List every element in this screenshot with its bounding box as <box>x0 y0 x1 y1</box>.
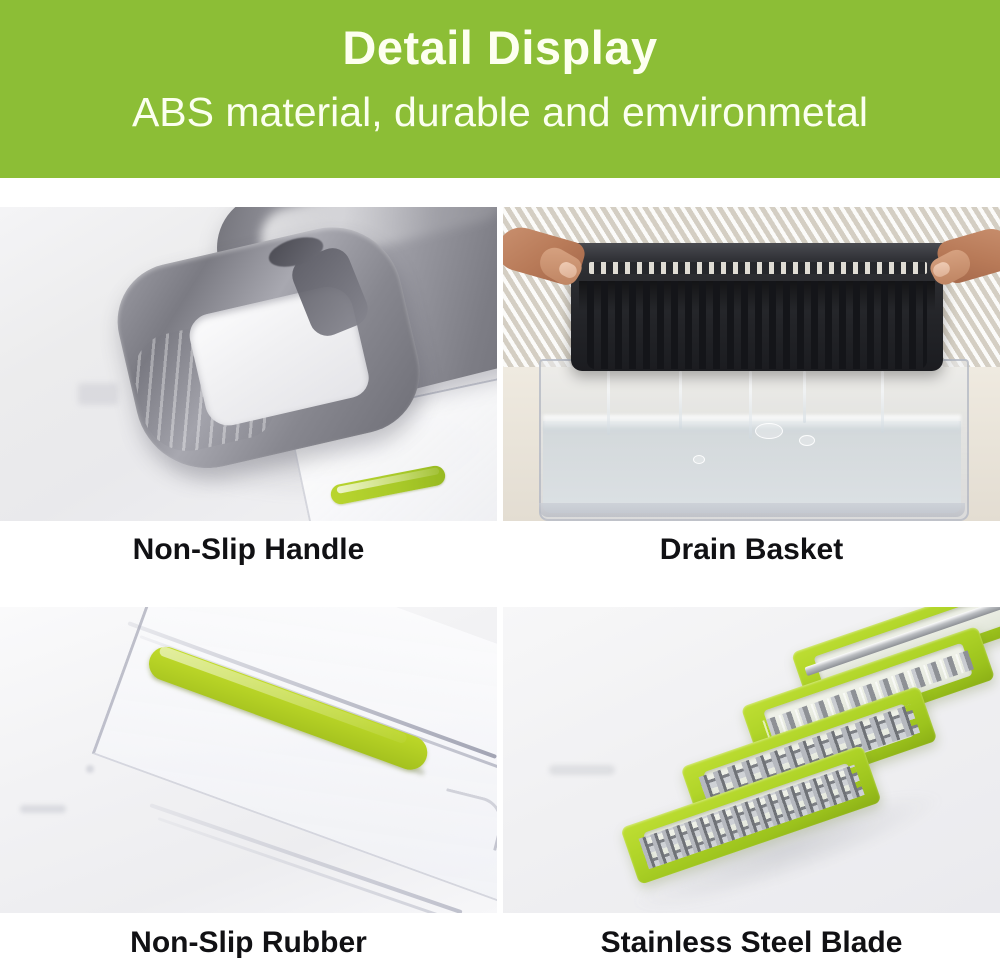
water-drip <box>749 371 752 439</box>
water-body <box>543 421 961 513</box>
water-bubble <box>755 423 783 439</box>
water-drip <box>607 371 610 435</box>
header-banner: Detail Display ABS material, durable and… <box>0 0 1000 178</box>
basket-rim <box>563 243 951 260</box>
basket-drain-slots <box>587 281 927 369</box>
water-bubble <box>693 455 705 464</box>
photo-non-slip-handle <box>0 207 497 521</box>
water-surface <box>543 415 961 431</box>
water-drip <box>679 371 682 429</box>
caption-drain-basket: Drain Basket <box>503 533 1000 567</box>
basket-rim-slots <box>589 262 927 274</box>
detail-display-page: Detail Display ABS material, durable and… <box>0 0 1000 979</box>
feature-panel-stainless-steel-blade: Stainless Steel Blade <box>503 593 1000 979</box>
water-drip <box>803 371 806 423</box>
photo-drain-basket <box>503 207 1000 521</box>
water-bubble <box>799 435 815 446</box>
page-subtitle: ABS material, durable and emvironmetal <box>0 86 1000 138</box>
feature-panel-non-slip-handle: Non-Slip Handle <box>0 186 497 586</box>
caption-non-slip-rubber: Non-Slip Rubber <box>0 926 497 960</box>
background-smudge <box>549 765 615 775</box>
container-base <box>539 503 965 517</box>
caption-stainless-steel-blade: Stainless Steel Blade <box>503 926 1000 960</box>
feature-panel-drain-basket: Drain Basket <box>503 186 1000 586</box>
caption-non-slip-handle: Non-Slip Handle <box>0 533 497 567</box>
page-title: Detail Display <box>0 20 1000 76</box>
background-smudge <box>20 805 66 813</box>
photo-stainless-steel-blade <box>503 607 1000 913</box>
feature-panel-non-slip-rubber: Non-Slip Rubber <box>0 593 497 979</box>
background-smudge <box>78 383 118 405</box>
water-drip <box>881 371 884 433</box>
background-speck <box>86 765 94 773</box>
photo-non-slip-rubber <box>0 607 497 913</box>
